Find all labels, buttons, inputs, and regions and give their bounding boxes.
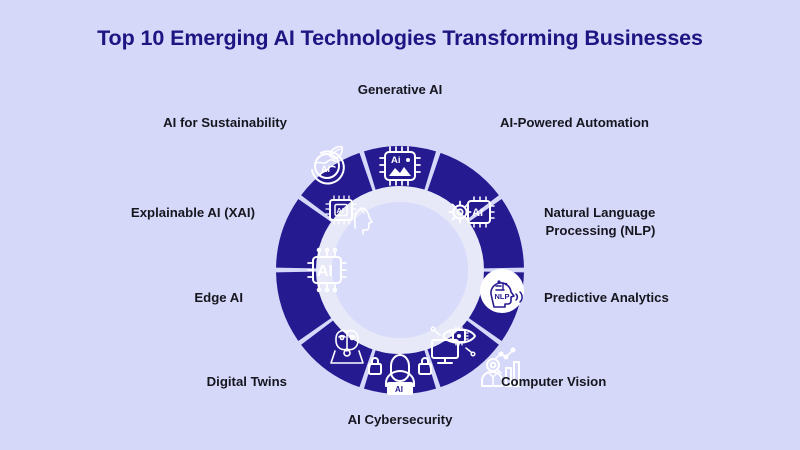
label-ai-powered-automation[interactable]: AI-Powered Automation bbox=[500, 114, 649, 132]
svg-text:Ai: Ai bbox=[391, 155, 401, 166]
label-explainable-ai[interactable]: Explainable AI (XAI) bbox=[131, 204, 255, 222]
svg-text:Ai: Ai bbox=[321, 164, 330, 174]
label-digital-twins[interactable]: Digital Twins bbox=[207, 373, 287, 391]
label-edge-ai[interactable]: Edge AI bbox=[194, 289, 243, 307]
label-predictive-analytics[interactable]: Predictive Analytics bbox=[544, 289, 669, 307]
svg-text:AI: AI bbox=[472, 207, 483, 219]
svg-text:AI: AI bbox=[395, 385, 403, 394]
svg-text:AI: AI bbox=[337, 206, 345, 215]
label-nlp-line-2: Processing (NLP) bbox=[544, 222, 655, 240]
nlp-head-soundwave-icon: NLP bbox=[480, 269, 524, 313]
inner-hub bbox=[332, 202, 468, 338]
svg-text:NLP: NLP bbox=[495, 292, 510, 301]
label-ai-cybersecurity[interactable]: AI Cybersecurity bbox=[280, 411, 520, 429]
label-natural-language-processing[interactable]: Natural Language Processing (NLP) bbox=[544, 204, 655, 240]
label-generative-ai[interactable]: Generative AI bbox=[280, 81, 520, 99]
leaf-globe-ai-icon: Ai bbox=[312, 147, 344, 184]
label-nlp-line-1: Natural Language bbox=[544, 204, 655, 222]
label-computer-vision[interactable]: Computer Vision bbox=[501, 373, 606, 391]
svg-text:AI: AI bbox=[317, 263, 333, 280]
page-title: Top 10 Emerging AI Technologies Transfor… bbox=[0, 26, 800, 51]
label-ai-for-sustainability[interactable]: AI for Sustainability bbox=[163, 114, 287, 132]
infographic-root: Top 10 Emerging AI Technologies Transfor… bbox=[0, 0, 800, 450]
